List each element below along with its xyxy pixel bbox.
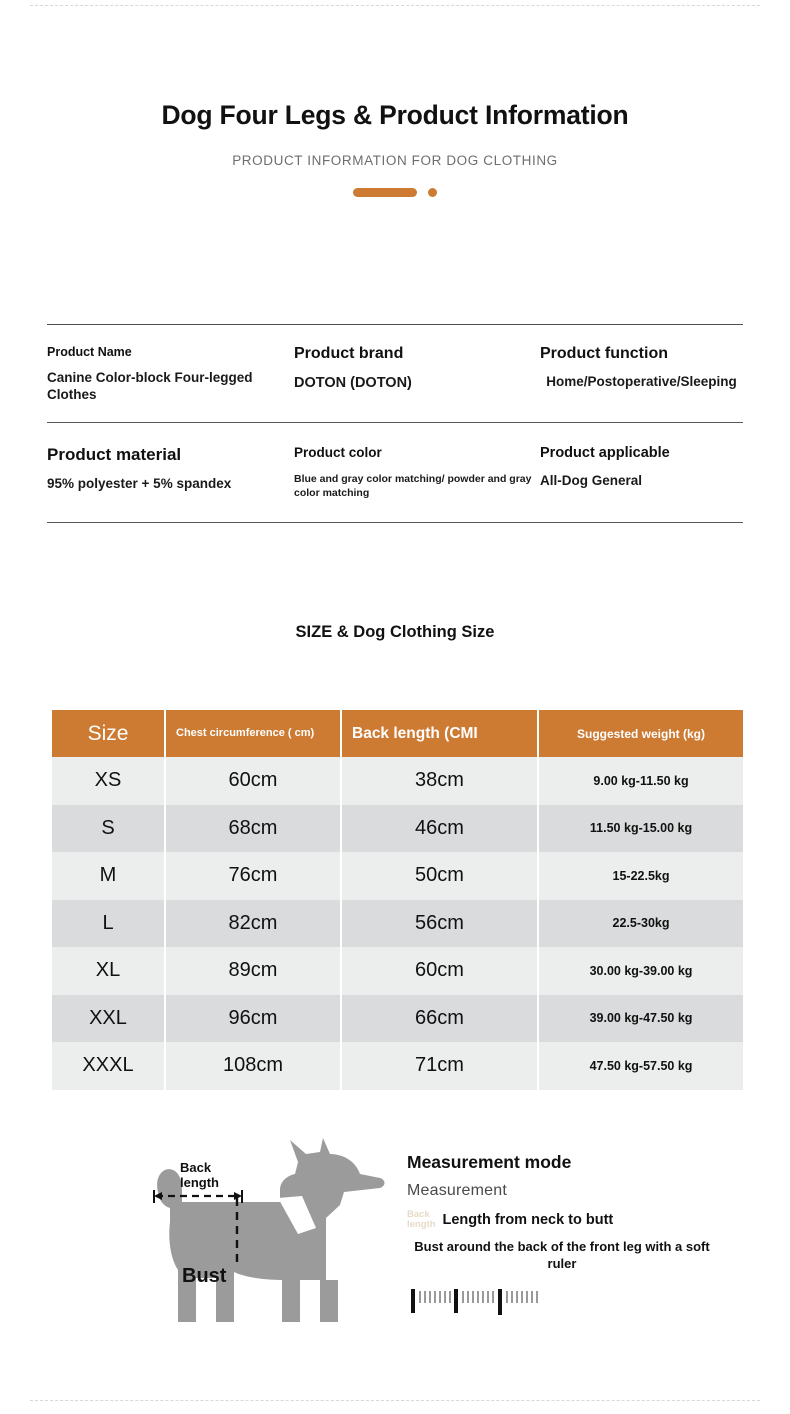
product-information-page: Dog Four Legs & Product Information PROD… xyxy=(0,0,790,1414)
back-length-tag: Back length xyxy=(407,1210,436,1231)
dog-silhouette-icon: Back length Bust xyxy=(130,1130,400,1335)
info-cell-product-material: Product material 95% polyester + 5% span… xyxy=(47,423,294,522)
header-decoration xyxy=(0,188,790,197)
table-row: L 82cm 56cm 22.5-30kg xyxy=(52,900,743,948)
soft-ruler-icon xyxy=(407,1285,547,1317)
cell-chest: 89cm xyxy=(165,947,341,995)
measurement-line-back-length: Back length Length from neck to butt xyxy=(407,1210,747,1231)
cell-back: 66cm xyxy=(341,995,538,1043)
cell-size: L xyxy=(52,900,165,948)
measurement-subtitle: Measurement xyxy=(407,1182,747,1200)
svg-text:Back: Back xyxy=(180,1160,212,1175)
column-header-weight: Suggested weight (kg) xyxy=(538,710,743,757)
cell-chest: 76cm xyxy=(165,852,341,900)
info-label: Product color xyxy=(294,445,540,461)
cell-size: M xyxy=(52,852,165,900)
column-header-back: Back length (CMI xyxy=(341,710,538,757)
top-dashed-divider xyxy=(30,5,760,6)
measurement-title: Measurement mode xyxy=(407,1152,747,1173)
size-section-heading: SIZE & Dog Clothing Size xyxy=(0,623,790,642)
page-header: Dog Four Legs & Product Information PROD… xyxy=(0,100,790,197)
column-header-chest: Chest circumference ( cm) xyxy=(165,710,341,757)
table-row: XXL 96cm 66cm 39.00 kg-47.50 kg xyxy=(52,995,743,1043)
measurement-instruction-2: Bust around the back of the front leg wi… xyxy=(407,1239,717,1273)
cell-size: S xyxy=(52,805,165,853)
table-row: XXXL 108cm 71cm 47.50 kg-57.50 kg xyxy=(52,1042,743,1090)
cell-size: XXXL xyxy=(52,1042,165,1090)
cell-chest: 68cm xyxy=(165,805,341,853)
cell-size: XL xyxy=(52,947,165,995)
cell-weight: 9.00 kg-11.50 kg xyxy=(538,757,743,805)
page-title: Dog Four Legs & Product Information xyxy=(0,100,790,132)
info-cell-product-function: Product function Home/Postoperative/Slee… xyxy=(540,325,743,422)
cell-chest: 108cm xyxy=(165,1042,341,1090)
product-info-section: Product Name Canine Color-block Four-leg… xyxy=(47,324,743,523)
measurement-instruction-1: Length from neck to butt xyxy=(443,1212,614,1228)
info-value: DOTON (DOTON) xyxy=(294,374,540,392)
svg-text:length: length xyxy=(180,1175,219,1190)
info-cell-product-applicable: Product applicable All-Dog General xyxy=(540,423,743,522)
cell-weight: 11.50 kg-15.00 kg xyxy=(538,805,743,853)
cell-weight: 30.00 kg-39.00 kg xyxy=(538,947,743,995)
decoration-bar-icon xyxy=(353,188,417,197)
cell-back: 50cm xyxy=(341,852,538,900)
info-value: Canine Color-block Four-legged Clothes xyxy=(47,370,294,404)
cell-chest: 96cm xyxy=(165,995,341,1043)
cell-size: XXL xyxy=(52,995,165,1043)
cell-weight: 22.5-30kg xyxy=(538,900,743,948)
table-row: S 68cm 46cm 11.50 kg-15.00 kg xyxy=(52,805,743,853)
page-subtitle: PRODUCT INFORMATION FOR DOG CLOTHING xyxy=(0,153,790,168)
cell-chest: 82cm xyxy=(165,900,341,948)
info-label: Product Name xyxy=(47,345,294,359)
cell-chest: 60cm xyxy=(165,757,341,805)
dog-measurement-diagram: Back length Bust xyxy=(130,1130,400,1335)
product-info-row: Product material 95% polyester + 5% span… xyxy=(47,423,743,522)
info-cell-product-name: Product Name Canine Color-block Four-leg… xyxy=(47,325,294,422)
info-divider-bottom xyxy=(47,522,743,523)
cell-weight: 47.50 kg-57.50 kg xyxy=(538,1042,743,1090)
cell-weight: 15-22.5kg xyxy=(538,852,743,900)
cell-size: XS xyxy=(52,757,165,805)
svg-text:Bust: Bust xyxy=(182,1265,227,1287)
table-row: XL 89cm 60cm 30.00 kg-39.00 kg xyxy=(52,947,743,995)
info-value: All-Dog General xyxy=(540,473,743,490)
product-info-row: Product Name Canine Color-block Four-leg… xyxy=(47,325,743,422)
table-row: M 76cm 50cm 15-22.5kg xyxy=(52,852,743,900)
measurement-section: Back length Bust Measurement mode Measur… xyxy=(0,1130,790,1360)
measurement-text-block: Measurement mode Measurement Back length… xyxy=(407,1152,747,1322)
table-row: XS 60cm 38cm 9.00 kg-11.50 kg xyxy=(52,757,743,805)
table-header-row: Size Chest circumference ( cm) Back leng… xyxy=(52,710,743,757)
column-header-size: Size xyxy=(52,710,165,757)
info-value: Home/Postoperative/Sleeping xyxy=(540,374,743,391)
info-cell-product-brand: Product brand DOTON (DOTON) xyxy=(294,325,540,422)
cell-back: 38cm xyxy=(341,757,538,805)
info-cell-product-color: Product color Blue and gray color matchi… xyxy=(294,423,540,522)
size-table: Size Chest circumference ( cm) Back leng… xyxy=(52,710,743,1090)
cell-back: 46cm xyxy=(341,805,538,853)
info-label: Product applicable xyxy=(540,445,743,462)
decoration-dot-icon xyxy=(428,188,437,197)
cell-back: 56cm xyxy=(341,900,538,948)
info-label: Product material xyxy=(47,445,294,465)
info-value: 95% polyester + 5% spandex xyxy=(47,476,294,493)
cell-back: 71cm xyxy=(341,1042,538,1090)
cell-weight: 39.00 kg-47.50 kg xyxy=(538,995,743,1043)
cell-back: 60cm xyxy=(341,947,538,995)
info-value: Blue and gray color matching/ powder and… xyxy=(294,472,540,500)
bottom-dashed-divider xyxy=(30,1400,760,1401)
info-label: Product brand xyxy=(294,345,540,363)
info-label: Product function xyxy=(540,345,743,363)
